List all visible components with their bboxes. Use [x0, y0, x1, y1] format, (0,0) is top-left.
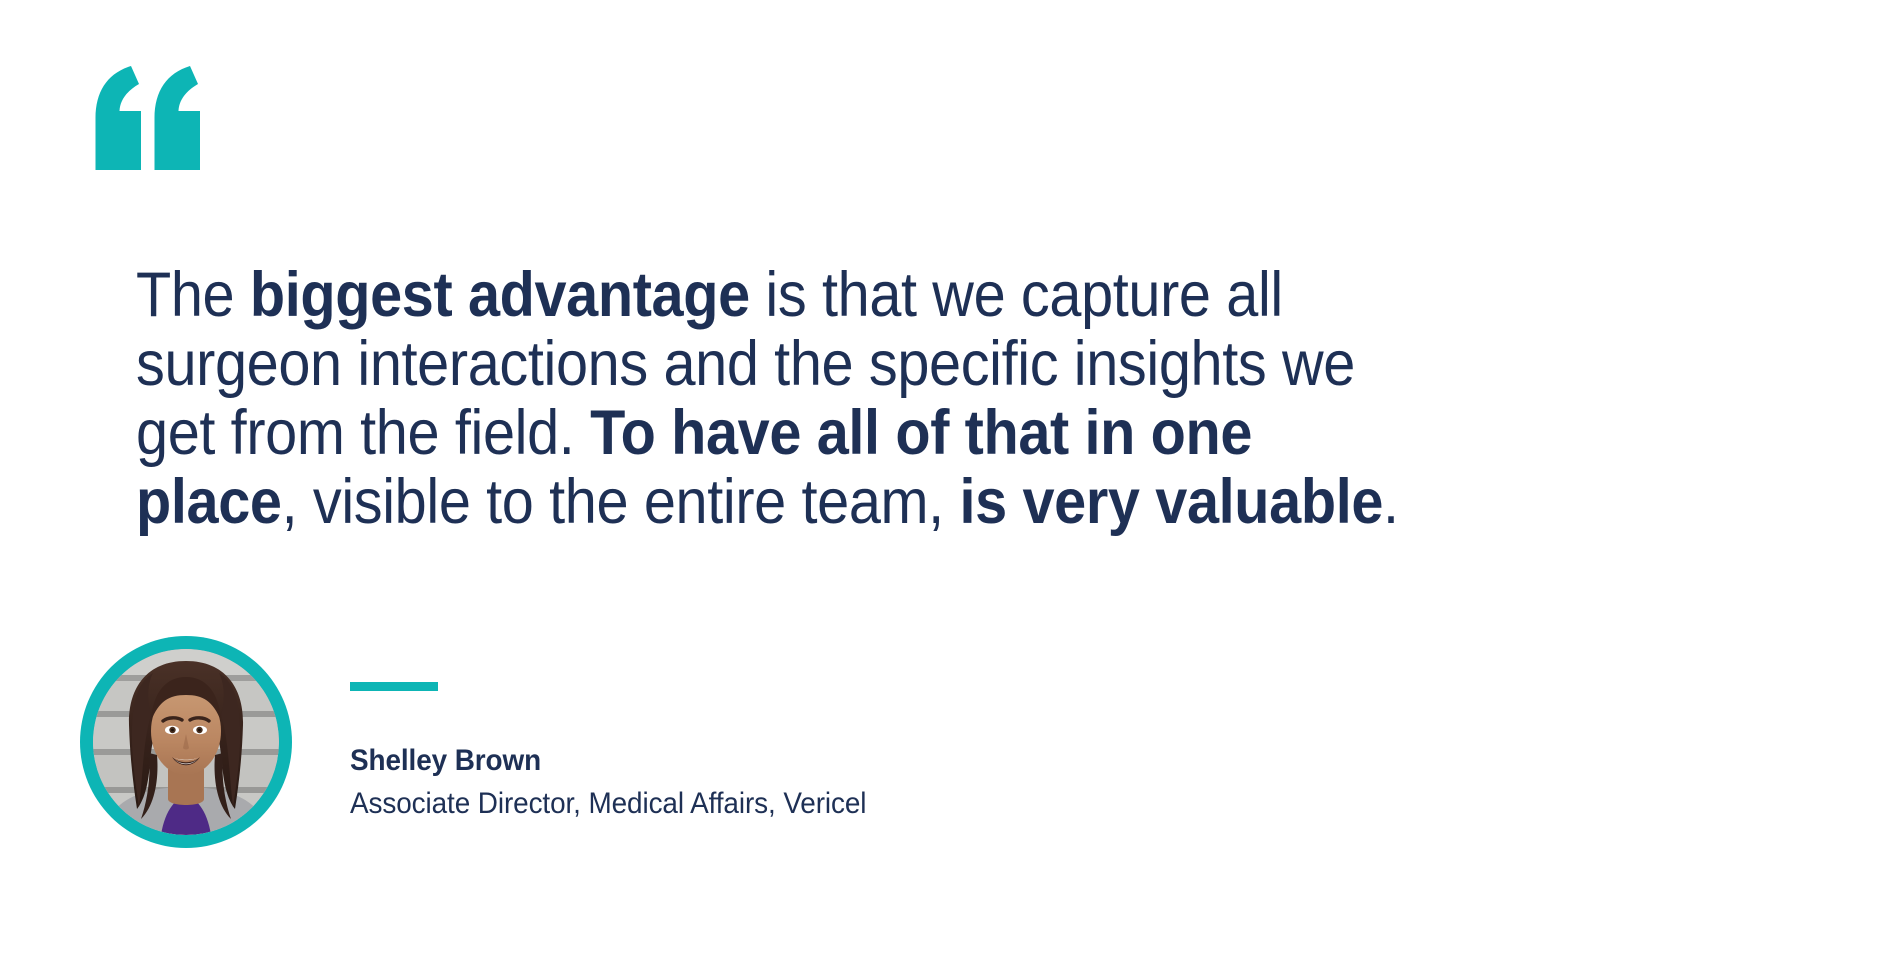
attribution-name: Shelley Brown	[350, 741, 1187, 781]
quote-segment-0: The	[136, 260, 250, 330]
quote-text: The biggest advantage is that we capture…	[136, 261, 1417, 537]
avatar-photo	[93, 649, 279, 835]
opening-double-quote-icon	[94, 66, 214, 171]
avatar	[80, 636, 292, 848]
testimonial-card: The biggest advantage is that we capture…	[0, 0, 1880, 961]
quote-segment-1: biggest advantage	[250, 260, 750, 330]
attribution-divider	[350, 682, 438, 691]
attribution-details: Shelley Brown Associate Director, Medica…	[350, 636, 1250, 824]
quote-segment-4: , visible to the entire team,	[282, 467, 960, 537]
quote-segment-5: is very valuable	[959, 467, 1383, 537]
attribution: Shelley Brown Associate Director, Medica…	[80, 636, 1280, 866]
attribution-role: Associate Director, Medical Affairs, Ver…	[350, 784, 1187, 824]
quote-segment-6: .	[1383, 467, 1399, 537]
